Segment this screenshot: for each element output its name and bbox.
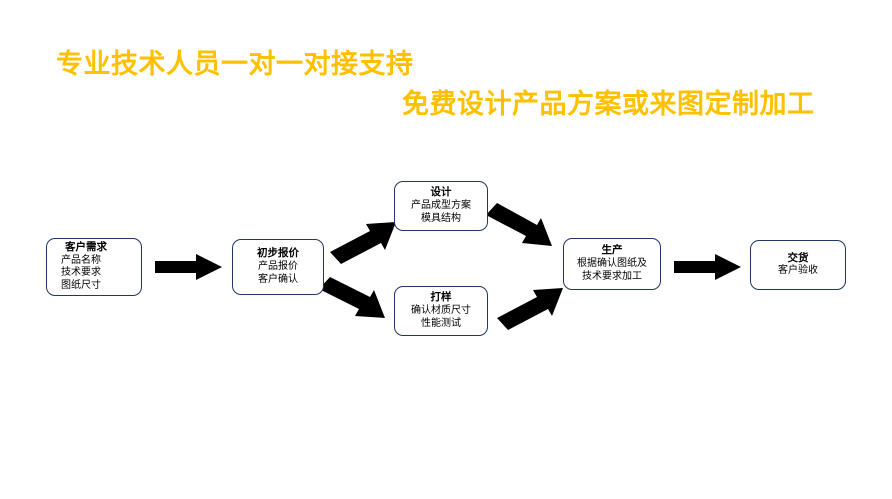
node-sampling[interactable]: 打样 确认材质尺寸 性能测试 (394, 286, 488, 336)
node-detail: 图纸尺寸 (61, 280, 101, 293)
node-title: 设计 (431, 186, 452, 199)
node-title: 客户需求 (61, 241, 107, 254)
arrow-design-to-production (486, 203, 552, 246)
arrow-requirements-to-quote (155, 254, 222, 280)
node-customer-requirements[interactable]: 客户需求 产品名称 技术要求 图纸尺寸 (46, 238, 142, 296)
headline-primary: 专业技术人员一对一对接支持 (56, 50, 414, 80)
node-detail: 模具结构 (421, 213, 461, 226)
node-delivery[interactable]: 交货 客户验收 (750, 240, 846, 290)
node-title: 交货 (788, 252, 809, 265)
node-detail: 确认材质尺寸 (411, 305, 471, 318)
node-design[interactable]: 设计 产品成型方案 模具结构 (394, 181, 488, 231)
node-detail: 技术要求 (61, 267, 101, 280)
headline-secondary: 免费设计产品方案或来图定制加工 (402, 90, 815, 120)
node-detail: 技术要求加工 (582, 271, 642, 284)
node-detail: 产品报价 (258, 261, 298, 274)
node-preliminary-quote[interactable]: 初步报价 产品报价 客户确认 (232, 239, 324, 295)
node-detail: 客户确认 (258, 274, 298, 287)
node-detail: 根据确认图纸及 (577, 258, 647, 271)
slide-canvas: 专业技术人员一对一对接支持 免费设计产品方案或来图定制加工 客户需求 产品名称 … (0, 0, 892, 499)
node-detail: 性能测试 (421, 318, 461, 331)
node-detail: 客户验收 (778, 265, 818, 278)
node-title: 打样 (431, 291, 452, 304)
node-title: 初步报价 (257, 247, 299, 260)
arrow-quote-to-sampling (319, 277, 385, 318)
node-production[interactable]: 生产 根据确认图纸及 技术要求加工 (563, 238, 661, 290)
node-title: 生产 (602, 244, 623, 257)
arrow-quote-to-design (330, 222, 396, 264)
node-detail: 产品名称 (61, 255, 101, 268)
arrow-production-to-delivery (674, 254, 741, 280)
node-detail: 产品成型方案 (411, 200, 471, 213)
arrow-sampling-to-production (497, 288, 563, 330)
